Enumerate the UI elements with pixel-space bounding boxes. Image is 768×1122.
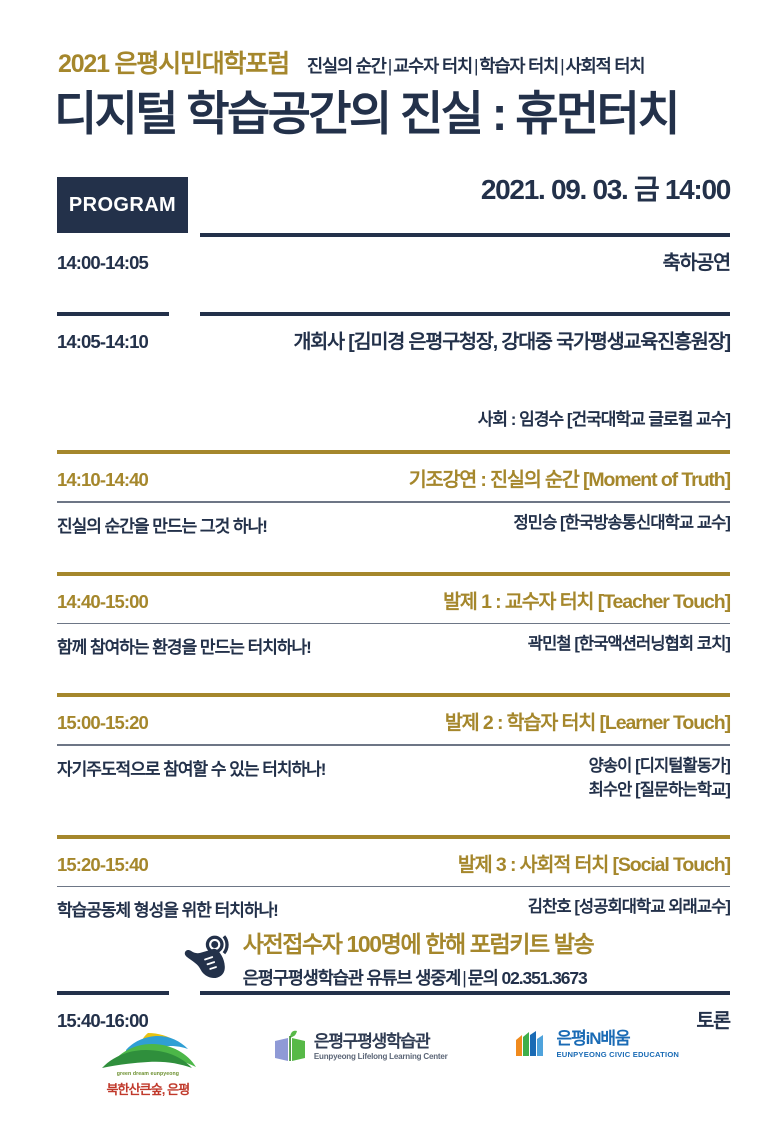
row-title: 토론	[696, 1004, 730, 1033]
row-time: 14:00-14:05	[57, 252, 148, 274]
speaker-list: 곽민철 [한국액션러닝협회 코치]	[528, 633, 730, 657]
logo-b-text: 은평구평생학습관 Eunpyeong Lifelong Learning Cen…	[314, 1033, 448, 1062]
list-item: 김찬호 [성공회대학교 외래교수]	[528, 896, 730, 920]
row-header: 15:40-16:00 토론	[57, 995, 730, 1033]
notice-separator: |	[460, 968, 467, 988]
tagline-part-1: 진실의 순간	[307, 56, 386, 76]
row-title: 발제 1 : 교수자 터치 [Teacher Touch]	[443, 585, 730, 614]
rule-bar-right	[200, 312, 730, 316]
logo-b-name-en: Eunpyeong Lifelong Learning Center	[314, 1052, 448, 1061]
row-header: 14:40-15:00 발제 1 : 교수자 터치 [Teacher Touch…	[57, 576, 730, 614]
row-time: 14:40-15:00	[57, 591, 148, 613]
schedule-list: 14:00-14:05 축하공연 14:05-14:10 개회사 [김미경 은평…	[57, 233, 730, 1033]
list-item: 정민승 [한국방송통신대학교 교수]	[514, 512, 730, 536]
tagline-part-4: 사회적 터치	[566, 56, 645, 76]
row-subtitle: 진실의 순간을 만드는 그것 하나!	[57, 512, 267, 537]
logo-a-tagline: green dream eunpyeong	[117, 1071, 179, 1078]
row-title: 개회사 [김미경 은평구청장, 강대중 국가평생교육진흥원장]	[293, 325, 730, 354]
page-title: 디지털 학습공간의 진실 : 휴먼터치	[0, 88, 768, 141]
notice-sub-text: 은평구평생학습관 유튜브 생중계|문의 02.351.3673	[243, 965, 594, 990]
row-subtitle: 함께 참여하는 환경을 만드는 터치하나!	[57, 633, 311, 658]
row-subtitle: 자기주도적으로 참여할 수 있는 터치하나!	[57, 755, 325, 780]
row-subtitle: 학습공동체 형성을 위한 터치하나!	[57, 896, 278, 921]
bukhansan-mountain-icon	[96, 1030, 200, 1070]
row-time: 14:05-14:10	[57, 331, 148, 353]
logo-eunpyeong-lifelong-learning-center: 은평구평생학습관 Eunpyeong Lifelong Learning Cen…	[273, 1030, 448, 1064]
rule-bar-left	[57, 991, 169, 995]
row-time: 15:40-16:00	[57, 1010, 148, 1032]
row-time: 14:10-14:40	[57, 469, 148, 491]
row-title: 축하공연	[663, 246, 730, 275]
event-date: 2021. 09. 03. 금 14:00	[481, 168, 730, 208]
row-header: 14:00-14:05 축하공연	[57, 237, 730, 275]
logo-c-name: 은평iN배움	[557, 1030, 680, 1048]
tagline-part-3: 학습자 터치	[479, 56, 558, 76]
header-top-line: 2021 은평시민대학포럼 진실의 순간|교수자 터치|학습자 터치|사회적 터…	[0, 44, 768, 80]
row-subrow: 함께 참여하는 환경을 만드는 터치하나! 곽민철 [한국액션러닝협회 코치]	[57, 624, 730, 658]
row-rule	[57, 312, 730, 316]
rule-bar-right	[200, 991, 730, 995]
row-title: 발제 2 : 학습자 터치 [Learner Touch]	[445, 706, 730, 735]
host-line: 사회 : 임경수 [건국대학교 글로컬 교수]	[57, 405, 730, 430]
row-time: 15:20-15:40	[57, 854, 148, 876]
row-rule	[57, 991, 730, 995]
row-title: 기조강연 : 진실의 순간 [Moment of Truth]	[409, 463, 730, 492]
poster-header: 2021 은평시민대학포럼 진실의 순간|교수자 터치|학습자 터치|사회적 터…	[0, 44, 768, 141]
list-item: 곽민철 [한국액션러닝협회 코치]	[528, 633, 730, 657]
row-title: 발제 3 : 사회적 터치 [Social Touch]	[458, 848, 730, 877]
sponsor-logo-row: green dream eunpyeong 북한산큰숲, 은평 은평구평생학습관…	[0, 1030, 768, 1098]
speaker-list: 정민승 [한국방송통신대학교 교수]	[514, 512, 730, 536]
logo-c-name-en: EUNPYEONG CIVIC EDUCATION	[557, 1050, 680, 1059]
tagline-separator-3: |	[558, 56, 565, 76]
row-subrow: 진실의 순간을 만드는 그것 하나! 정민승 [한국방송통신대학교 교수]	[57, 503, 730, 537]
row-subrow: 학습공동체 형성을 위한 터치하나! 김찬호 [성공회대학교 외래교수]	[57, 887, 730, 921]
rule-bar-right	[200, 233, 730, 237]
program-badge: PROGRAM	[57, 177, 188, 233]
notice-main-text: 사전접수자 100명에 한해 포럼키트 발송	[243, 925, 594, 959]
speaker-list: 김찬호 [성공회대학교 외래교수]	[528, 896, 730, 920]
logo-eunpyeong-civic-education: 은평iN배움 EUNPYEONG CIVIC EDUCATION	[514, 1030, 680, 1059]
header-tagline: 진실의 순간|교수자 터치|학습자 터치|사회적 터치	[307, 53, 644, 78]
registration-notice: 사전접수자 100명에 한해 포럼키트 발송 은평구평생학습관 유튜브 생중계|…	[0, 925, 768, 991]
open-book-sprout-icon	[273, 1030, 307, 1064]
list-item: 최수안 [질문하는학교]	[589, 779, 730, 803]
notice-contact-text: 문의 02.351.3673	[468, 968, 587, 988]
row-time: 15:00-15:20	[57, 712, 148, 734]
notice-broadcast-text: 은평구평생학습관 유튜브 생중계	[243, 968, 461, 988]
table-row: 15:00-15:20 발제 2 : 학습자 터치 [Learner Touch…	[57, 693, 730, 802]
table-row: 14:40-15:00 발제 1 : 교수자 터치 [Teacher Touch…	[57, 572, 730, 659]
row-header: 15:20-15:40 발제 3 : 사회적 터치 [Social Touch]	[57, 839, 730, 877]
table-row: 14:05-14:10 개회사 [김미경 은평구청장, 강대중 국가평생교육진흥…	[57, 312, 730, 430]
speaker-list: 양송이 [디지털활동가] 최수안 [질문하는학교]	[589, 755, 730, 803]
table-row: 14:00-14:05 축하공연	[57, 233, 730, 275]
row-header: 14:05-14:10 개회사 [김미경 은평구청장, 강대중 국가평생교육진흥…	[57, 316, 730, 354]
notice-text-block: 사전접수자 100명에 한해 포럼키트 발송 은평구평생학습관 유튜브 생중계|…	[243, 925, 594, 990]
row-header: 14:10-14:40 기조강연 : 진실의 순간 [Moment of Tru…	[57, 454, 730, 492]
table-row: 14:10-14:40 기조강연 : 진실의 순간 [Moment of Tru…	[57, 450, 730, 537]
forum-year-title: 2021 은평시민대학포럼	[58, 44, 289, 80]
logo-bukhansan-forest-eunpyeong: green dream eunpyeong 북한산큰숲, 은평	[89, 1030, 207, 1098]
row-subrow: 자기주도적으로 참여할 수 있는 터치하나! 양송이 [디지털활동가] 최수안 …	[57, 746, 730, 803]
poster-root: 2021 은평시민대학포럼 진실의 순간|교수자 터치|학습자 터치|사회적 터…	[0, 0, 768, 1122]
table-row: 15:20-15:40 발제 3 : 사회적 터치 [Social Touch]…	[57, 835, 730, 922]
row-header: 15:00-15:20 발제 2 : 학습자 터치 [Learner Touch…	[57, 697, 730, 735]
logo-a-name: 북한산큰숲, 은평	[106, 1079, 189, 1098]
rule-bar-left	[57, 312, 169, 316]
logo-c-text: 은평iN배움 EUNPYEONG CIVIC EDUCATION	[557, 1030, 680, 1059]
pointing-hand-click-icon	[175, 929, 237, 991]
tagline-part-2: 교수자 터치	[393, 56, 472, 76]
table-row: 15:40-16:00 토론	[57, 991, 730, 1033]
logo-b-name: 은평구평생학습관	[314, 1033, 448, 1051]
book-bars-icon	[514, 1030, 550, 1058]
list-item: 양송이 [디지털활동가]	[589, 755, 730, 779]
